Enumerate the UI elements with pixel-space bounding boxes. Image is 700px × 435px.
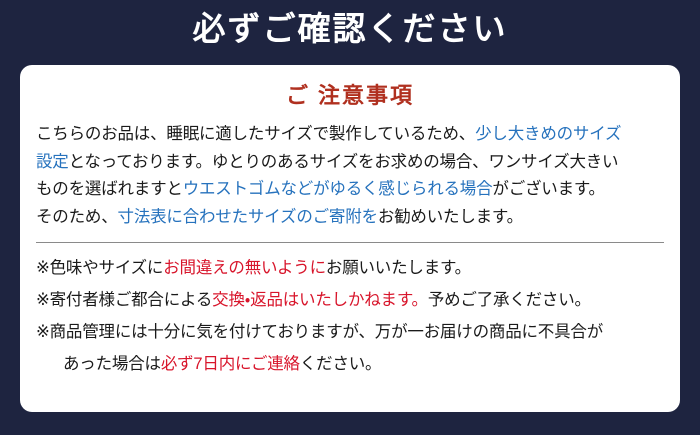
paragraph-line-3-plain-a: ものを選ばれますと xyxy=(36,180,183,198)
paragraph-line-1-plain-a: こちらのお品は、睡眠に適したサイズで製作しているため、 xyxy=(36,125,475,143)
note-item-defect-continued: あった場合は必ず7日内にご連絡ください。 xyxy=(36,348,664,380)
card-heading: ご 注意事項 xyxy=(20,81,680,111)
note-2-plain-c: 予めご了承ください。 xyxy=(428,291,591,309)
note-1-red-b: お間違えの無いように xyxy=(163,259,326,277)
note-item-defect: ※商品管理には十分に気を付けておりますが、万が一お届けの商品に不具合が xyxy=(36,316,664,348)
note-3-cont-plain-a: あった場合は xyxy=(63,355,161,373)
note-1-plain-a: ※色味やサイズに xyxy=(36,259,163,277)
note-3-cont-red-b: 必ず7日内にご連絡 xyxy=(161,355,300,373)
notice-banner: 必ずご確認ください ご 注意事項 こちらのお品は、睡眠に適したサイズで製作してい… xyxy=(0,0,700,435)
paragraph-line-4: そのため、寸法表に合わせたサイズのご寄附をお勧めいたします。 xyxy=(36,204,664,232)
note-1-plain-c: お願いいたします。 xyxy=(326,259,471,277)
note-item-exchange-return: ※寄付者様ご都合による交換・返品はいたしかねます。予めご了承ください。 xyxy=(36,284,664,316)
paragraph-line-3-plain-c: がございます。 xyxy=(492,180,604,198)
note-2-red-b: 交換・返品はいたしかねます。 xyxy=(212,291,428,309)
paragraph-line-4-blue-b: 寸法表に合わせたサイズのご寄附を xyxy=(118,208,378,226)
paragraph-line-2: 設定となっております。ゆとりのあるサイズをお求めの場合、ワンサイズ大きい xyxy=(36,149,664,177)
paragraph-line-1-blue-b: 少し大きめのサイズ xyxy=(475,125,621,143)
paragraph-line-4-plain-a: そのため、 xyxy=(36,208,118,226)
paragraph-line-1: こちらのお品は、睡眠に適したサイズで製作しているため、少し大きめのサイズ xyxy=(36,121,664,149)
section-divider xyxy=(36,242,664,243)
sizing-paragraph: こちらのお品は、睡眠に適したサイズで製作しているため、少し大きめのサイズ 設定と… xyxy=(36,121,664,231)
paragraph-line-3-blue-b: ウエストゴムなどがゆるく感じられる場合 xyxy=(183,180,493,198)
notes-list: ※色味やサイズにお間違えの無いようにお願いいたします。 ※寄付者様ご都合による交… xyxy=(36,252,664,380)
paragraph-line-2-blue-a: 設定 xyxy=(36,153,69,171)
notice-card: ご 注意事項 こちらのお品は、睡眠に適したサイズで製作しているため、少し大きめの… xyxy=(20,65,680,412)
banner-title: 必ずご確認ください xyxy=(0,3,700,55)
paragraph-line-3: ものを選ばれますとウエストゴムなどがゆるく感じられる場合がございます。 xyxy=(36,176,664,204)
note-3-cont-plain-c: ください。 xyxy=(300,355,382,373)
note-item-color-size: ※色味やサイズにお間違えの無いようにお願いいたします。 xyxy=(36,252,664,284)
paragraph-line-4-plain-c: お勧めいたします。 xyxy=(378,208,523,226)
paragraph-line-2-plain-b: となっております。ゆとりのあるサイズをお求めの場合、ワンサイズ大きい xyxy=(69,153,619,171)
note-3-plain-a: ※商品管理には十分に気を付けておりますが、万が一お届けの商品に不具合が xyxy=(36,323,603,341)
note-2-plain-a: ※寄付者様ご都合による xyxy=(36,291,212,309)
